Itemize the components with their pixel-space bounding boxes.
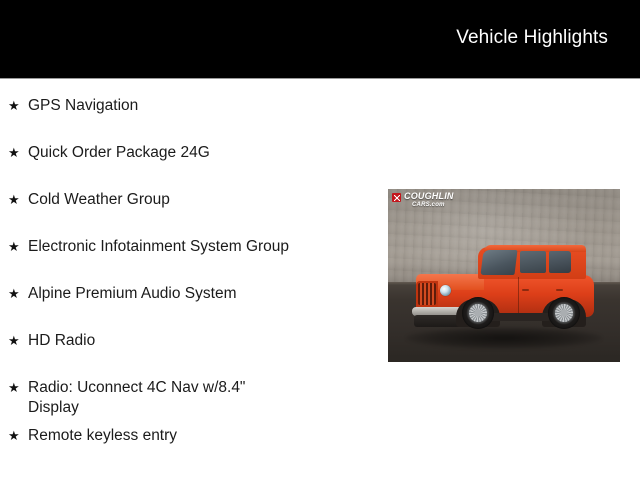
header-divider — [0, 78, 640, 79]
dealer-watermark: COUGHLIN CARS.com — [392, 192, 454, 208]
vehicle-photo[interactable]: COUGHLIN CARS.com — [388, 189, 620, 362]
dealer-watermark-text: COUGHLIN CARS.com — [404, 192, 454, 208]
star-icon: ★ — [8, 237, 20, 257]
vehicle-illustration — [410, 237, 602, 337]
vehicle-door-handle — [556, 289, 563, 291]
list-item: ★ Quick Order Package 24G — [0, 135, 390, 182]
vehicle-grille — [416, 281, 438, 307]
list-item: ★ Cold Weather Group — [0, 182, 390, 229]
vehicle-rear-window — [549, 251, 571, 273]
list-item: ★ GPS Navigation — [0, 88, 390, 135]
header-bar: Vehicle Highlights — [0, 0, 640, 78]
dealer-name: COUGHLIN — [404, 192, 454, 201]
vehicle-front-wheel — [462, 297, 494, 329]
list-item-label: Electronic Infotainment System Group — [28, 229, 390, 257]
dealer-logo-icon — [392, 193, 401, 202]
list-item: ★ HD Radio — [0, 323, 390, 370]
list-item-label: GPS Navigation — [28, 88, 390, 116]
vehicle-highlights-list: ★ GPS Navigation ★ Quick Order Package 2… — [0, 88, 390, 465]
vehicle-door-handle — [522, 289, 529, 291]
vehicle-rear-wheel — [548, 297, 580, 329]
list-item-label: Cold Weather Group — [28, 182, 390, 210]
vehicle-headlight — [440, 285, 451, 296]
page-title: Vehicle Highlights — [456, 27, 608, 49]
star-icon: ★ — [8, 331, 20, 351]
star-icon: ★ — [8, 284, 20, 304]
dealer-site: CARS.com — [412, 202, 454, 208]
star-icon: ★ — [8, 143, 20, 163]
star-icon: ★ — [8, 426, 20, 446]
list-item-label: Quick Order Package 24G — [28, 135, 390, 163]
star-icon: ★ — [8, 378, 20, 398]
list-item-label: Radio: Uconnect 4C Nav w/8.4" Display — [28, 370, 390, 418]
star-icon: ★ — [8, 190, 20, 210]
vehicle-windshield — [480, 250, 517, 275]
list-item-label: Alpine Premium Audio System — [28, 276, 390, 304]
list-item-label: Remote keyless entry — [28, 418, 390, 446]
list-item: ★ Electronic Infotainment System Group — [0, 229, 390, 276]
vehicle-front-window — [520, 251, 546, 273]
vehicle-rocker-panel — [490, 313, 550, 321]
list-item: ★ Radio: Uconnect 4C Nav w/8.4" Display — [0, 370, 390, 418]
star-icon: ★ — [8, 96, 20, 116]
list-item-label: HD Radio — [28, 323, 390, 351]
vehicle-door-seam — [518, 277, 519, 313]
list-item: ★ Remote keyless entry — [0, 418, 390, 465]
list-item: ★ Alpine Premium Audio System — [0, 276, 390, 323]
